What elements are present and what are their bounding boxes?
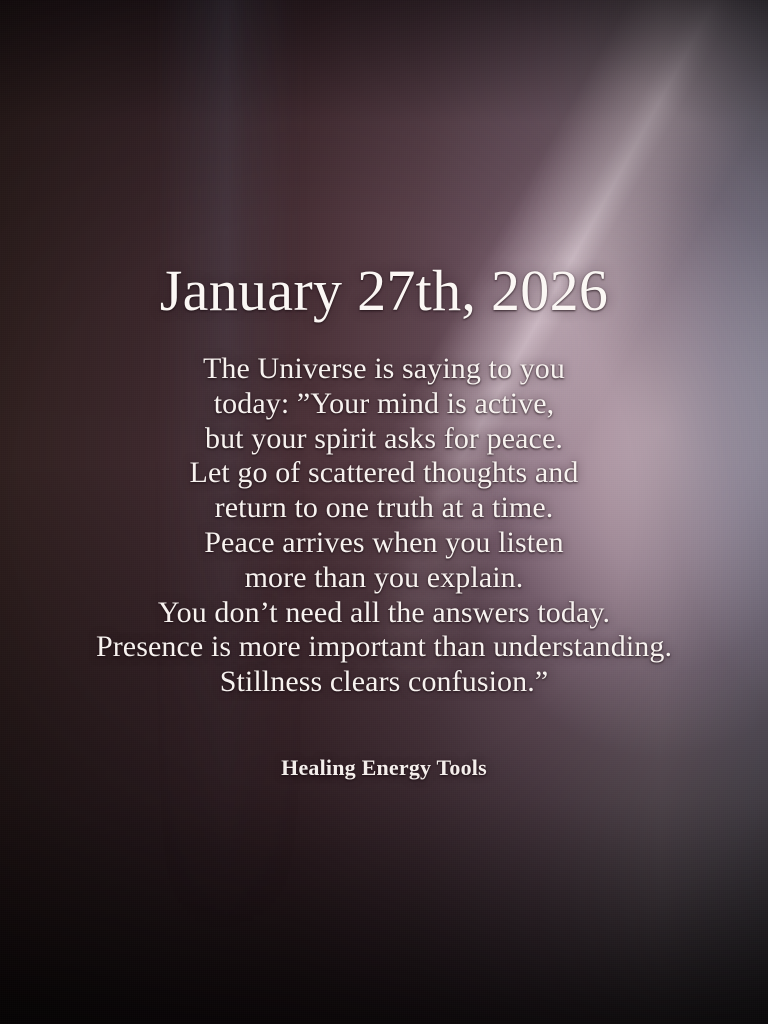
poster-content: January 27th, 2026 The Universe is sayin… xyxy=(0,0,768,1024)
verse-line: Let go of scattered thoughts and xyxy=(0,456,768,491)
attribution-label: Healing Energy Tools xyxy=(0,755,768,781)
verse-line: Peace arrives when you listen xyxy=(0,526,768,561)
quote-poster: January 27th, 2026 The Universe is sayin… xyxy=(0,0,768,1024)
verse-line: more than you explain. xyxy=(0,561,768,596)
verse-line: but your spirit asks for peace. xyxy=(0,422,768,457)
verse-line: The Universe is saying to you xyxy=(0,352,768,387)
verse-block: The Universe is saying to you today: ”Yo… xyxy=(0,352,768,700)
date-title: January 27th, 2026 xyxy=(0,262,768,320)
verse-line: Presence is more important than understa… xyxy=(0,630,768,665)
verse-line: Stillness clears confusion.” xyxy=(0,665,768,700)
verse-line: You don’t need all the answers today. xyxy=(0,596,768,631)
verse-line: today: ”Your mind is active, xyxy=(0,387,768,422)
verse-line: return to one truth at a time. xyxy=(0,491,768,526)
